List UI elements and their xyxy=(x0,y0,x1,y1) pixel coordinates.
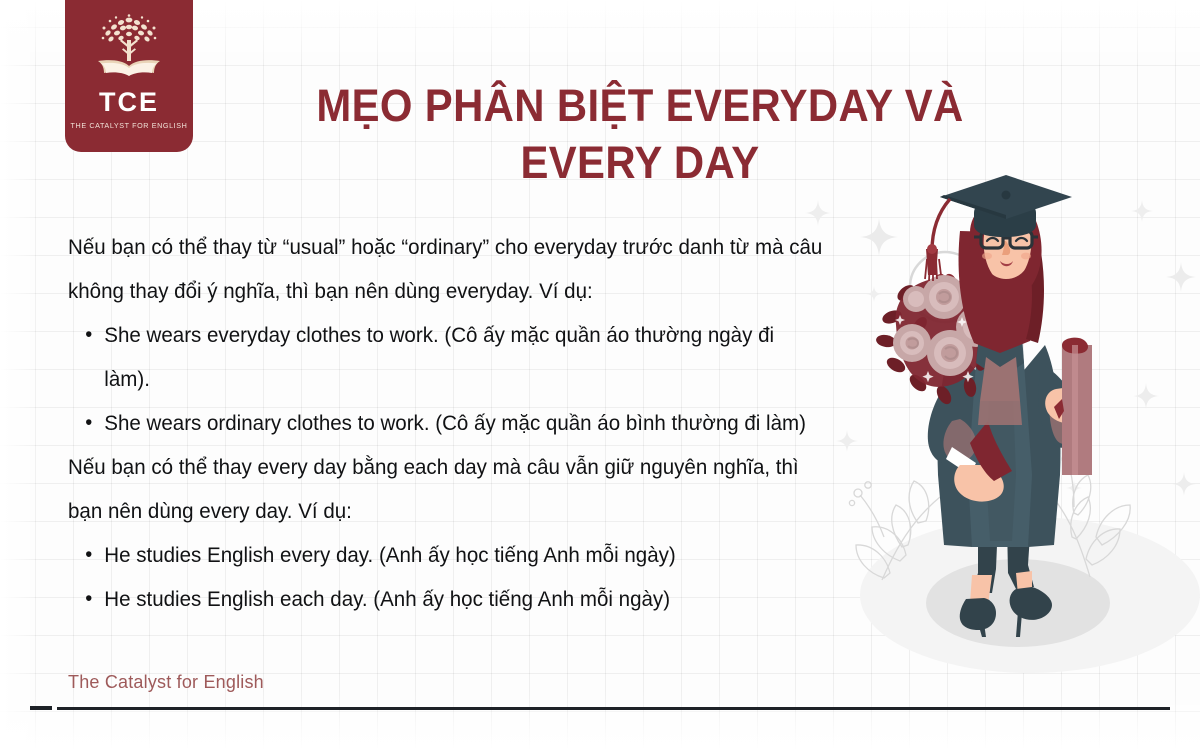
lesson-content: Nếu bạn có thể thay từ “usual” hoặc “ord… xyxy=(68,225,822,621)
list-item: • He studies English every day. (Anh ấy … xyxy=(68,533,822,577)
footer-brand-text: The Catalyst for English xyxy=(68,672,264,693)
list-item: • He studies English each day. (Anh ấy h… xyxy=(68,577,822,621)
footer-rule xyxy=(57,707,1170,710)
poster-canvas: TCE THE CATALYST FOR ENGLISH MẸO PHÂN BI… xyxy=(0,0,1200,750)
bullet-icon: • xyxy=(85,533,92,577)
brand-logo-badge[interactable]: TCE THE CATALYST FOR ENGLISH xyxy=(65,0,193,152)
logo-initials: TCE xyxy=(99,89,159,116)
list-item: • She wears everyday clothes to work. (C… xyxy=(68,313,822,401)
bullet-icon: • xyxy=(85,313,92,357)
tree-and-open-book-icon xyxy=(90,14,168,86)
list-item-text: She wears ordinary clothes to work. (Cô … xyxy=(104,411,806,435)
sparkle-icon xyxy=(805,200,831,226)
list-item-text: She wears everyday clothes to work. (Cô … xyxy=(104,323,774,391)
graduation-cap xyxy=(940,175,1072,237)
paragraph-2: Nếu bạn có thể thay every day bằng each … xyxy=(68,445,822,533)
bullet-icon: • xyxy=(85,577,92,621)
list-item: • She wears ordinary clothes to work. (C… xyxy=(68,401,822,445)
graduate-illustration xyxy=(840,175,1200,675)
page-title-line-1: MẸO PHÂN BIỆT EVERYDAY VÀ xyxy=(268,78,1012,135)
logo-tagline: THE CATALYST FOR ENGLISH xyxy=(71,121,188,130)
paragraph-1: Nếu bạn có thể thay từ “usual” hoặc “ord… xyxy=(68,225,822,313)
example-list-everyday: • She wears everyday clothes to work. (C… xyxy=(68,313,822,445)
list-item-text: He studies English each day. (Anh ấy học… xyxy=(104,587,670,611)
paragraph-1-line-1: Nếu bạn có thể thay từ “usual” hoặc “ord… xyxy=(68,235,724,259)
paragraph-2-line-1: Nếu bạn có thể thay every day bằng each … xyxy=(68,455,707,479)
example-list-every-day: • He studies English every day. (Anh ấy … xyxy=(68,533,822,621)
list-item-text: He studies English every day. (Anh ấy họ… xyxy=(104,543,675,567)
footer-dash xyxy=(30,706,52,710)
bullet-icon: • xyxy=(85,401,92,445)
left-shoe xyxy=(960,598,996,630)
